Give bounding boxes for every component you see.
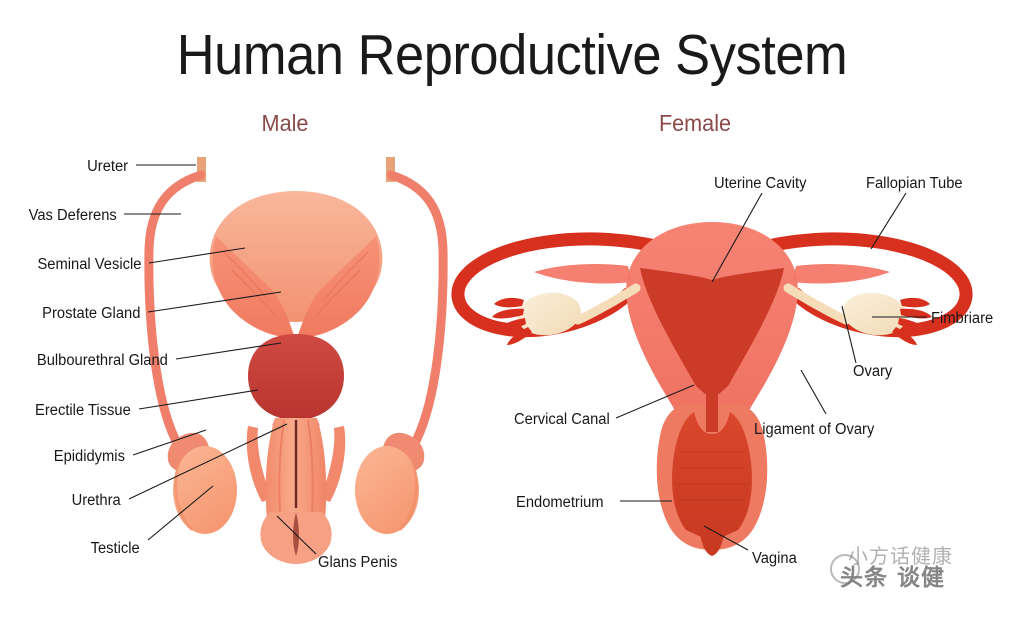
cervical-canal [706, 392, 718, 432]
label-male-erectile-tissue: Erectile Tissue [35, 402, 131, 420]
label-male-seminal-vesicle: Seminal Vesicle [37, 256, 141, 274]
label-female-vagina: Vagina [752, 550, 797, 568]
label-male-testicle: Testicle [91, 540, 140, 558]
label-male-epididymis: Epididymis [54, 448, 125, 466]
broad-ligament-left [534, 264, 632, 284]
label-female-fallopian-tube: Fallopian Tube [866, 175, 963, 193]
label-male-vas-deferens: Vas Deferens [29, 207, 117, 225]
label-male-prostate-gland: Prostate Gland [42, 305, 140, 323]
label-female-uterine-cavity: Uterine Cavity [714, 175, 806, 193]
label-female-endometrium: Endometrium [516, 494, 604, 512]
label-male-urethra: Urethra [72, 492, 121, 510]
label-male-glans-penis: Glans Penis [318, 554, 397, 572]
female-anatomy-illustration [0, 0, 1024, 618]
vagina-opening [700, 534, 724, 556]
label-female-ligament-of-ovary: Ligament of Ovary [754, 421, 874, 439]
label-male-bulbourethral-gland: Bulbourethral Gland [37, 352, 168, 370]
label-male-ureter: Ureter [87, 158, 128, 176]
diagram-canvas: Human Reproductive System Male Female [0, 0, 1024, 618]
label-female-cervical-canal: Cervical Canal [514, 411, 610, 429]
label-female-fimbriare: Fimbriare [931, 310, 993, 328]
broad-ligament-right [792, 264, 890, 284]
label-female-ovary: Ovary [853, 363, 892, 381]
watermark-bottom-text: 头条 谈健 [840, 558, 945, 592]
watermark: 小方话健康 头条 谈健 [830, 532, 1020, 612]
